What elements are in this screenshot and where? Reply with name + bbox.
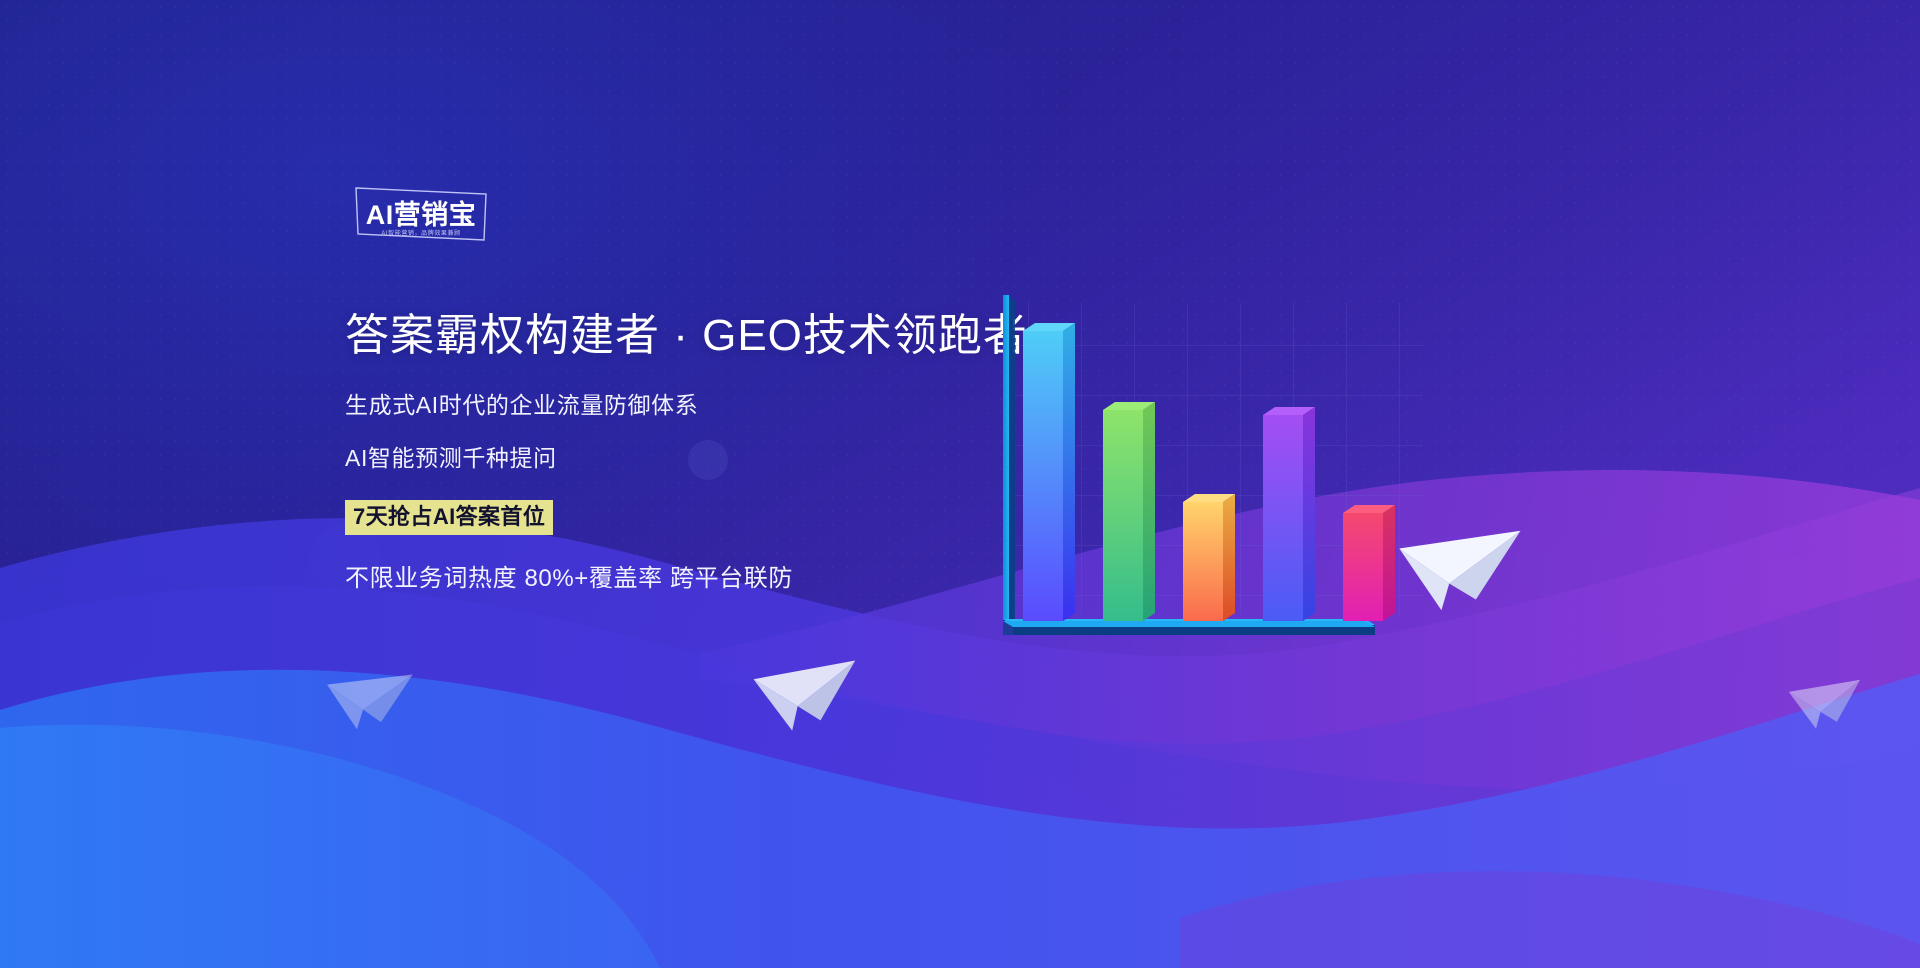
glow-blob-right — [1760, 555, 1816, 611]
paper-plane-mid-icon — [744, 627, 876, 749]
hero-subline-3: 不限业务词热度 80%+覆盖率 跨平台联防 — [345, 567, 1045, 591]
bar-chart-illustration — [975, 295, 1445, 660]
chart-bar-1 — [1023, 323, 1075, 621]
hero-subline-2: AI智能预测千种提问 — [345, 447, 1045, 470]
hero-subline-1: 生成式AI时代的企业流量防御体系 — [345, 394, 1045, 417]
chart-bar-5 — [1343, 505, 1395, 621]
brand-logo[interactable]: AI营销宝 AI智能营销，品牌效果兼顾 — [354, 185, 488, 243]
chart-bar-2 — [1103, 402, 1155, 621]
chart-bar-4 — [1263, 407, 1315, 621]
hero-headline: 答案霸权构建者 · GEO技术领跑者 — [345, 310, 1045, 362]
paper-plane-left-icon — [321, 646, 427, 741]
hero-copy: 答案霸权构建者 · GEO技术领跑者 生成式AI时代的企业流量防御体系 AI智能… — [345, 310, 1045, 591]
hero-banner: AI营销宝 AI智能营销，品牌效果兼顾 答案霸权构建者 · GEO技术领跑者 生… — [0, 0, 1920, 968]
chart-baseline-shadow — [1013, 627, 1375, 635]
brand-tagline: AI智能营销，品牌效果兼顾 — [381, 231, 460, 237]
hero-highlight-badge: 7天抢占AI答案首位 — [345, 500, 553, 535]
brand-wordmark: AI营销宝 — [366, 202, 477, 229]
chart-baseline-front — [1003, 621, 1375, 627]
chart-bar-3 — [1183, 494, 1235, 621]
hero-highlight-row: 7天抢占AI答案首位 — [345, 500, 1045, 535]
paper-plane-far-right-icon — [1782, 656, 1875, 741]
chart-y-axis — [1003, 295, 1015, 625]
